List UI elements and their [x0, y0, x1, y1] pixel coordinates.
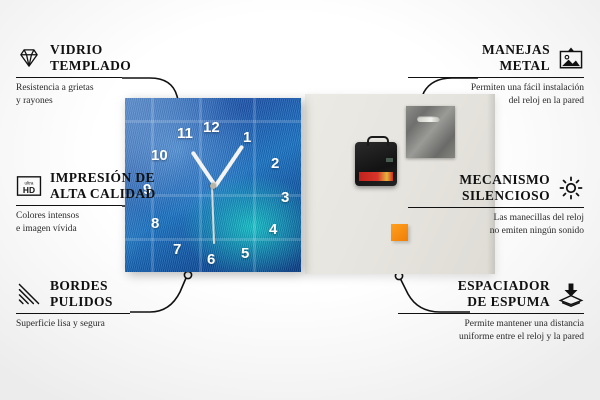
callout-rule: [398, 313, 584, 314]
callout-title-line2: DE ESPUMA: [458, 294, 550, 310]
clock-numeral-1: 1: [243, 130, 251, 145]
clock-numeral-4: 4: [269, 222, 277, 237]
clock-numeral-12: 12: [203, 120, 220, 135]
callout-title-line1: MANEJAS: [482, 42, 550, 58]
callout-desc-line1: Permiten una fácil instalación: [374, 82, 584, 94]
callout-manejas-metal: MANEJAS METAL Permiten una fácil instala…: [374, 42, 584, 107]
callout-title-line2: PULIDOS: [50, 294, 113, 310]
clock-numeral-5: 5: [241, 246, 249, 261]
callout-desc-line1: Colores intensos: [16, 210, 226, 222]
clock-numeral-10: 10: [151, 148, 168, 163]
mechanism-hook: [367, 136, 389, 146]
polished-edge-icon: [16, 281, 42, 307]
callout-mecanismo-silencioso: MECANISMO SILENCIOSO Las manecillas del …: [374, 172, 584, 237]
callout-desc-line2: uniforme entre el reloj y la pared: [374, 331, 584, 343]
callout-title-line1: IMPRESIÓN DE: [50, 170, 156, 186]
clock-numeral-3: 3: [281, 190, 289, 205]
gear-icon: [558, 175, 584, 201]
callout-desc-line1: Las manecillas del reloj: [374, 212, 584, 224]
foam-spacer-arrow-icon: [558, 281, 584, 307]
callout-rule: [16, 77, 122, 78]
clock-numeral-6: 6: [207, 252, 215, 267]
callout-desc-line1: Superficie lisa y segura: [16, 318, 226, 330]
callout-title-line2: METAL: [482, 58, 550, 74]
clock-numeral-11: 11: [177, 126, 193, 141]
callout-title-line1: VIDRIO: [50, 42, 131, 58]
callout-rule: [408, 77, 584, 78]
callout-title-line1: MECANISMO: [459, 172, 550, 188]
callout-bordes-pulidos: BORDES PULIDOS Superficie lisa y segura: [16, 278, 226, 331]
callout-title-line1: BORDES: [50, 278, 113, 294]
callout-desc-line1: Resistencia a grietas: [16, 82, 226, 94]
callout-desc-line2: y rayones: [16, 95, 226, 107]
diamond-icon: [16, 45, 42, 71]
picture-frame-hanger-icon: [558, 45, 584, 71]
callout-rule: [16, 313, 130, 314]
callout-title-line2: SILENCIOSO: [459, 188, 550, 204]
infographic-canvas: 12 1 2 3 4 5 6 7 8 9 10 11: [0, 0, 600, 400]
mechanism-chip: [386, 158, 393, 162]
svg-text:HD: HD: [23, 185, 35, 195]
callout-desc-line2: e imagen vívida: [16, 223, 226, 235]
callout-desc-line1: Permite mantener una distancia: [374, 318, 584, 330]
callout-desc-line2: del reloj en la pared: [374, 95, 584, 107]
clock-numeral-7: 7: [173, 242, 181, 257]
callout-impresion-alta-calidad: ultra HD IMPRESIÓN DE ALTA CALIDAD Color…: [16, 170, 226, 235]
callout-vidrio-templado: VIDRIO TEMPLADO Resistencia a grietas y …: [16, 42, 226, 107]
callout-title-line2: TEMPLADO: [50, 58, 131, 74]
callout-rule: [16, 205, 122, 206]
metal-hanger-plate: [406, 106, 455, 158]
callout-rule: [408, 207, 584, 208]
ultra-hd-icon: ultra HD: [16, 173, 42, 199]
callout-espaciador-espuma: ESPACIADOR DE ESPUMA Permite mantener un…: [374, 278, 584, 343]
callout-title-line1: ESPACIADOR: [458, 278, 550, 294]
callout-title-line2: ALTA CALIDAD: [50, 186, 156, 202]
hanger-slot: [417, 116, 440, 122]
clock-numeral-2: 2: [271, 156, 279, 171]
callout-desc-line2: no emiten ningún sonido: [374, 225, 584, 237]
